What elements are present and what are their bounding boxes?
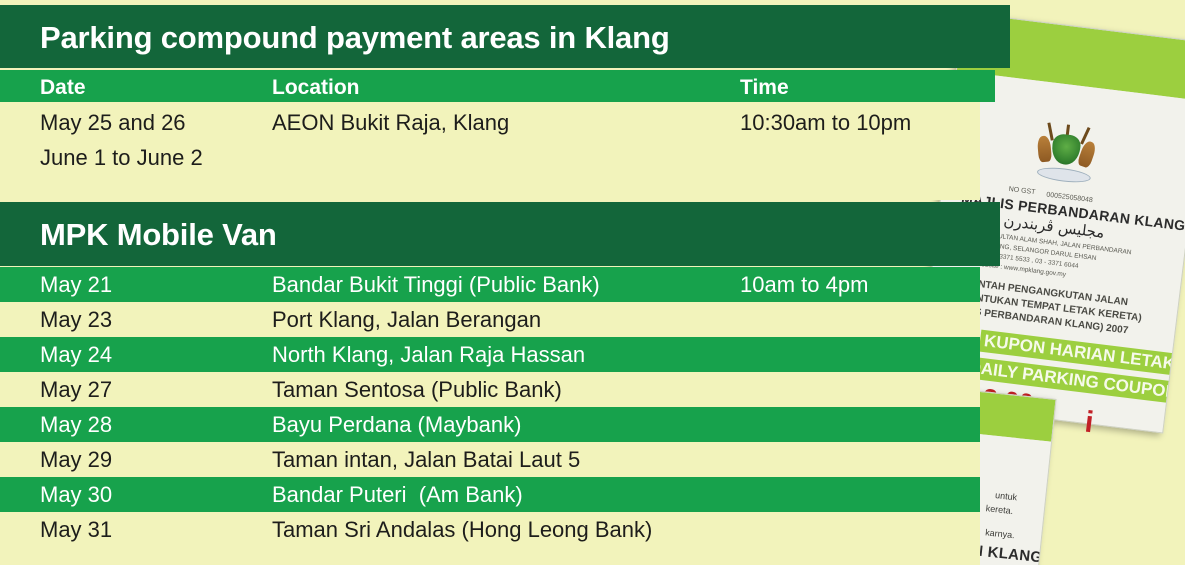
section2-row-location: Port Klang, Jalan Berangan	[272, 307, 541, 333]
section2-row-date: May 27	[40, 377, 112, 403]
coupon-gst-number: 000525058048	[1046, 192, 1093, 205]
section1-column-header-band	[0, 70, 995, 102]
coupon-front-note-2: kereta.	[985, 503, 1013, 516]
section2-row-date: May 24	[40, 342, 112, 368]
coupon-malay-title: KUPON HARIAN LETAK KERETA	[979, 330, 1184, 377]
section1-row-date-line-2: June 1 to June 2	[40, 145, 203, 171]
section1-row-time: 10:30am to 10pm	[740, 110, 911, 136]
section2-title: MPK Mobile Van	[40, 217, 277, 253]
section2-row-date: May 31	[40, 517, 112, 543]
section2-row-date: May 28	[40, 412, 112, 438]
section2-row-location: Taman intan, Jalan Batai Laut 5	[272, 447, 580, 473]
section2-row-location: Taman Sentosa (Public Bank)	[272, 377, 562, 403]
section2-row-location: Taman Sri Andalas (Hong Leong Bank)	[272, 517, 652, 543]
section1-row-date-line-1: May 25 and 26	[40, 110, 186, 136]
section2-row-date: May 21	[40, 272, 112, 298]
column-header-location: Location	[272, 76, 360, 100]
section2-row-location: Bandar Puteri (Am Bank)	[272, 482, 523, 508]
section1-row-location: AEON Bukit Raja, Klang	[272, 110, 509, 136]
section2-row-time: 10am to 4pm	[740, 272, 868, 298]
column-header-time: Time	[740, 76, 789, 100]
coupon-front-note-3: karnya.	[985, 527, 1015, 540]
infographic-root: NO GST 000525058048 MAJLIS PERBANDARAN K…	[0, 0, 1185, 565]
klang-crest-icon	[1030, 121, 1101, 190]
coupon-front-note-1: untuk	[995, 490, 1018, 502]
coupon-order-line-1: PERINTAH PENGANGKUTAN JALAN	[954, 276, 1128, 308]
coupon-english-title: DAILY PARKING COUPON	[963, 356, 1180, 404]
section2-row-location: North Klang, Jalan Raja Hassan	[272, 342, 585, 368]
coupon-back-price-fragment: i	[1083, 406, 1095, 441]
section2-row-date: May 30	[40, 482, 112, 508]
section2-row-date: May 29	[40, 447, 112, 473]
page-title: Parking compound payment areas in Klang	[40, 20, 670, 56]
section2-row-location: Bayu Perdana (Maybank)	[272, 412, 521, 438]
column-header-date: Date	[40, 76, 86, 100]
section2-row-location: Bandar Bukit Tinggi (Public Bank)	[272, 272, 600, 298]
section2-row-date: May 23	[40, 307, 112, 333]
coupon-perforation-notch	[1046, 92, 1108, 104]
coupon-gst-label: NO GST	[1008, 186, 1035, 196]
